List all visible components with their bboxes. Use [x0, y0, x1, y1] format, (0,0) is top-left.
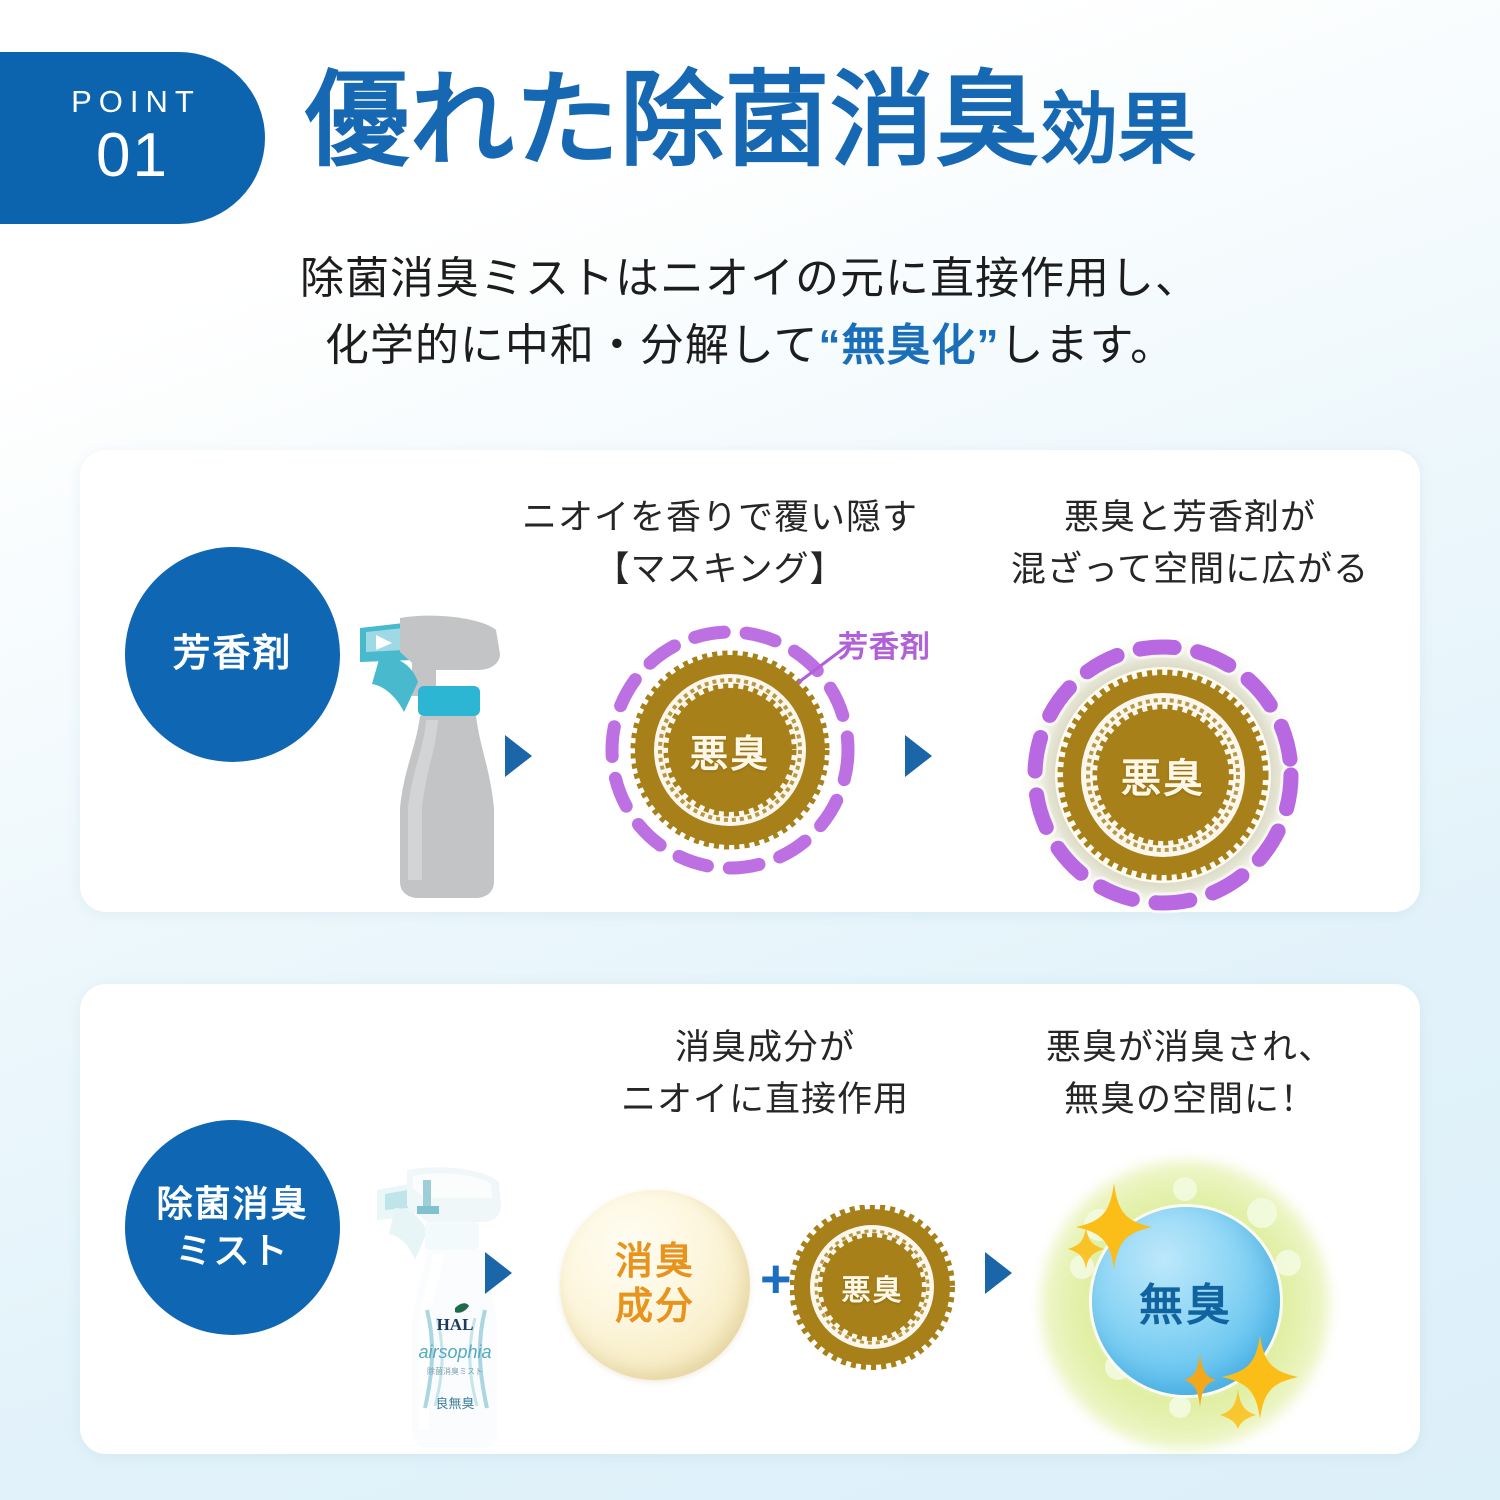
- arrow-right-icon: [985, 1252, 1012, 1294]
- svg-text:airsophia: airsophia: [418, 1342, 491, 1362]
- page-subtitle: 除菌消臭ミストはニオイの元に直接作用し、 化学的に中和・分解して“無臭化”します…: [0, 246, 1500, 380]
- svg-text:良無臭: 良無臭: [435, 1396, 474, 1411]
- svg-text:除菌消臭ミスト: 除菌消臭ミスト: [427, 1366, 483, 1376]
- odor-badge-label: 悪臭: [1018, 630, 1308, 920]
- aroma-annotation-label: 芳香剤: [838, 622, 931, 666]
- plus-icon: +: [760, 1258, 804, 1302]
- page-title: 優れた除菌消臭効果: [305, 64, 1196, 178]
- arrow-right-icon: [905, 735, 932, 777]
- subtitle-line-2-post: します。: [1000, 321, 1176, 370]
- infographic-canvas: POINT 01 優れた除菌消臭効果 除菌消臭ミストはニオイの元に直接作用し、 …: [0, 0, 1500, 1500]
- subtitle-line-1: 除菌消臭ミストはニオイの元に直接作用し、: [0, 246, 1500, 313]
- page-title-main: 優れた除菌消臭: [305, 63, 1040, 179]
- subtitle-line-2: 化学的に中和・分解して“無臭化”します。: [0, 313, 1500, 380]
- odorless-sphere-label: 無臭: [1139, 1269, 1233, 1333]
- product-bottle-airsophia: HAL airsophia 除菌消臭ミスト 良無臭: [315, 1150, 520, 1450]
- heading-direct-action: 消臭成分が ニオイに直接作用: [565, 1022, 965, 1126]
- point-label: POINT: [71, 86, 201, 117]
- heading-masking: ニオイを香りで覆い隠す 【マスキング】: [470, 492, 970, 596]
- odor-badge-small: 悪臭: [790, 1205, 955, 1370]
- heading-spread: 悪臭と芳香剤が 混ざって空間に広がる: [975, 492, 1405, 596]
- role-circle-mist: 除菌消臭 ミスト: [125, 1120, 340, 1335]
- point-badge: POINT 01: [0, 52, 265, 224]
- page-title-suffix: 効果: [1040, 85, 1196, 173]
- sparkle-icon: [1216, 1333, 1300, 1429]
- svg-text:HAL: HAL: [437, 1315, 474, 1334]
- subtitle-highlight: “無臭化”: [819, 321, 1000, 370]
- deodorant-ingredient-label: 消臭 成分: [615, 1240, 695, 1330]
- heading-odorless-space: 悪臭が消臭され、 無臭の空間に！: [970, 1022, 1410, 1126]
- arrow-right-icon: [505, 735, 532, 777]
- sparkle-icon: [1182, 1351, 1218, 1409]
- sparkle-icon: [1068, 1179, 1154, 1271]
- arrow-right-icon: [485, 1252, 512, 1294]
- role-circle-aroma: 芳香剤: [125, 547, 340, 762]
- odor-badge-label: 悪臭: [790, 1205, 955, 1370]
- odorless-sphere-group: 無臭: [1030, 1155, 1340, 1455]
- point-number: 01: [96, 123, 169, 190]
- odor-badge-spread: 悪臭: [1018, 630, 1308, 920]
- deodorant-ingredient-circle: 消臭 成分: [560, 1190, 750, 1380]
- subtitle-line-2-pre: 化学的に中和・分解して: [325, 321, 819, 370]
